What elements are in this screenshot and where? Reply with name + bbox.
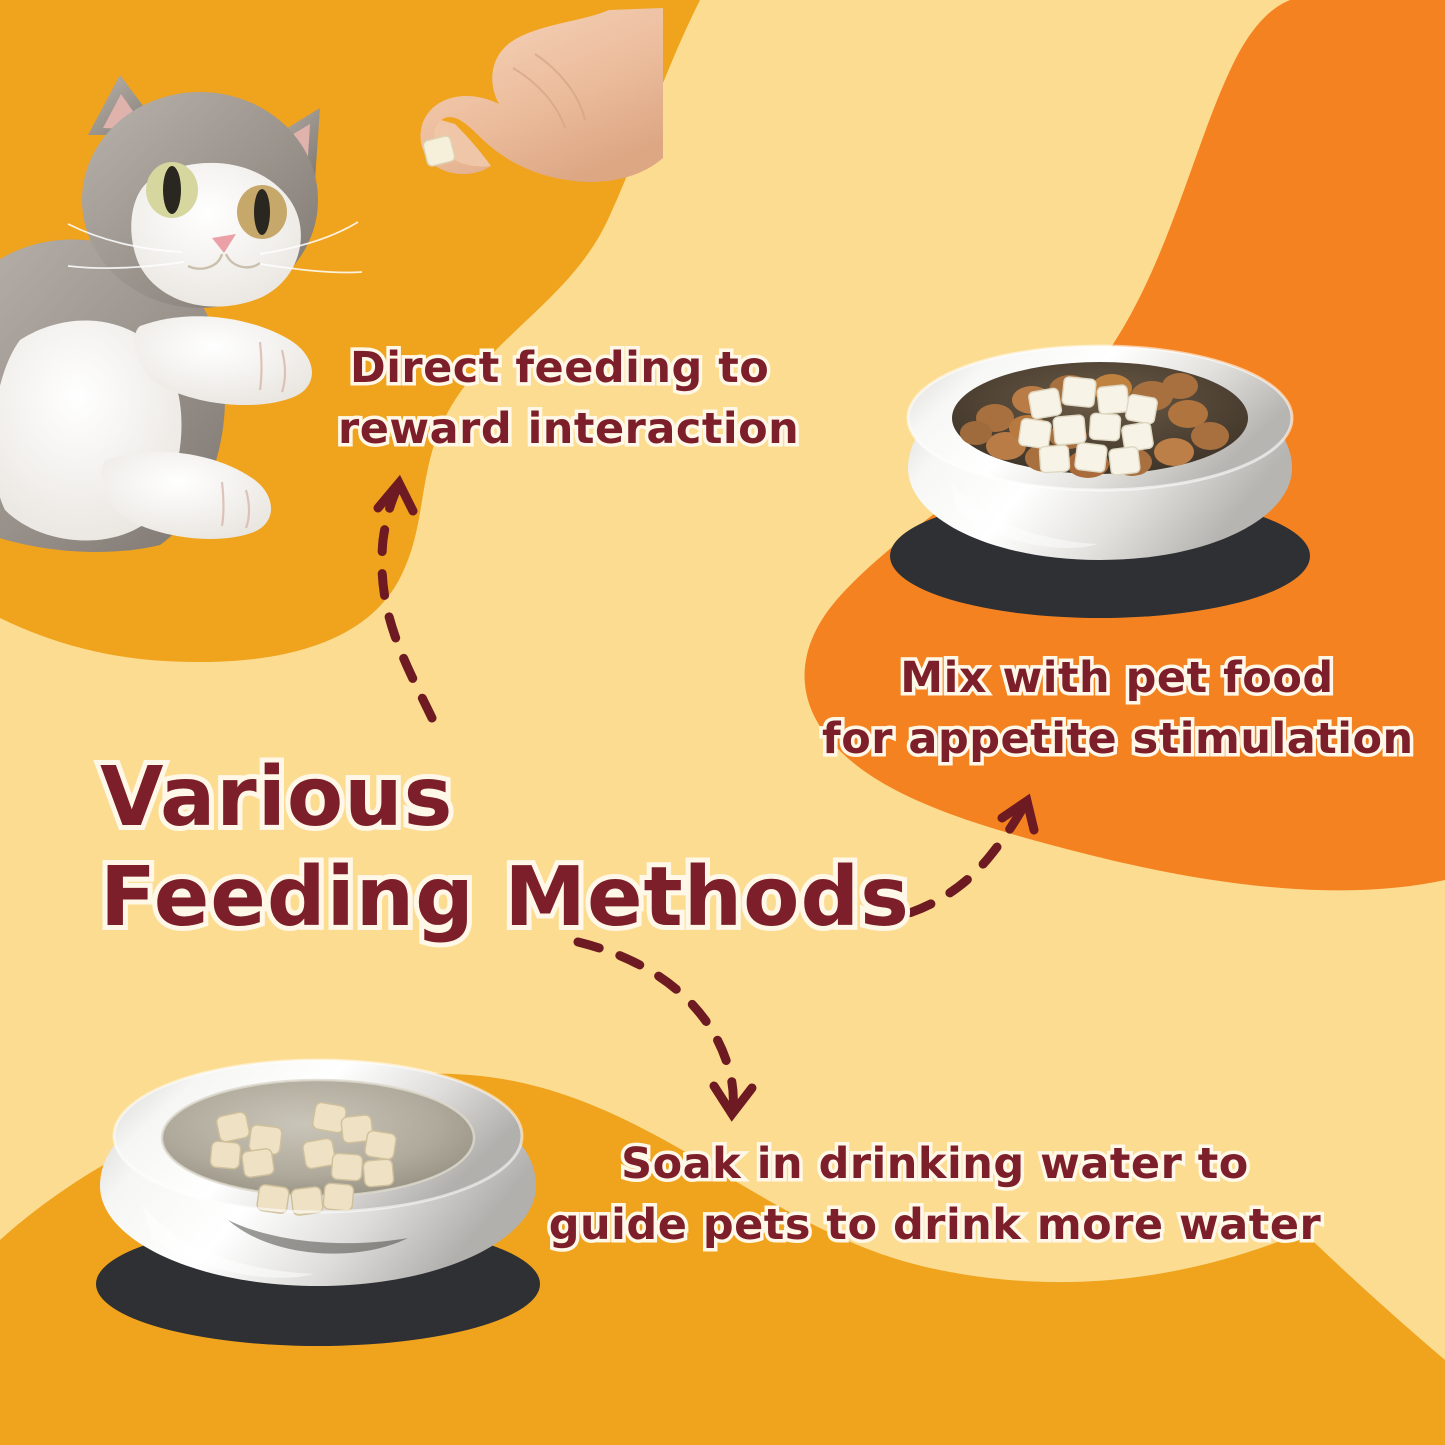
page-title-line1: Various — [100, 748, 910, 848]
arrow-to-direct — [378, 483, 432, 718]
caption-mix-line2: for appetite stimulation — [822, 709, 1412, 770]
infographic-poster: Direct feeding to reward interaction Mix… — [0, 0, 1445, 1445]
caption-mix-line1: Mix with pet food — [822, 648, 1412, 709]
page-title-line2: Feeding Methods — [100, 848, 910, 948]
caption-direct-feeding: Direct feeding to reward interaction — [350, 338, 799, 460]
caption-soak-line1: Soak in drinking water to — [540, 1134, 1330, 1195]
arrow-to-soak — [578, 942, 752, 1114]
caption-mix-with-food: Mix with pet food for appetite stimulati… — [822, 648, 1412, 770]
caption-direct-line2: reward interaction — [338, 399, 799, 460]
caption-soak-in-water: Soak in drinking water to guide pets to … — [540, 1134, 1330, 1256]
caption-direct-line1: Direct feeding to — [350, 338, 799, 399]
caption-soak-line2: guide pets to drink more water — [540, 1195, 1330, 1256]
page-title: Various Feeding Methods — [100, 748, 910, 948]
